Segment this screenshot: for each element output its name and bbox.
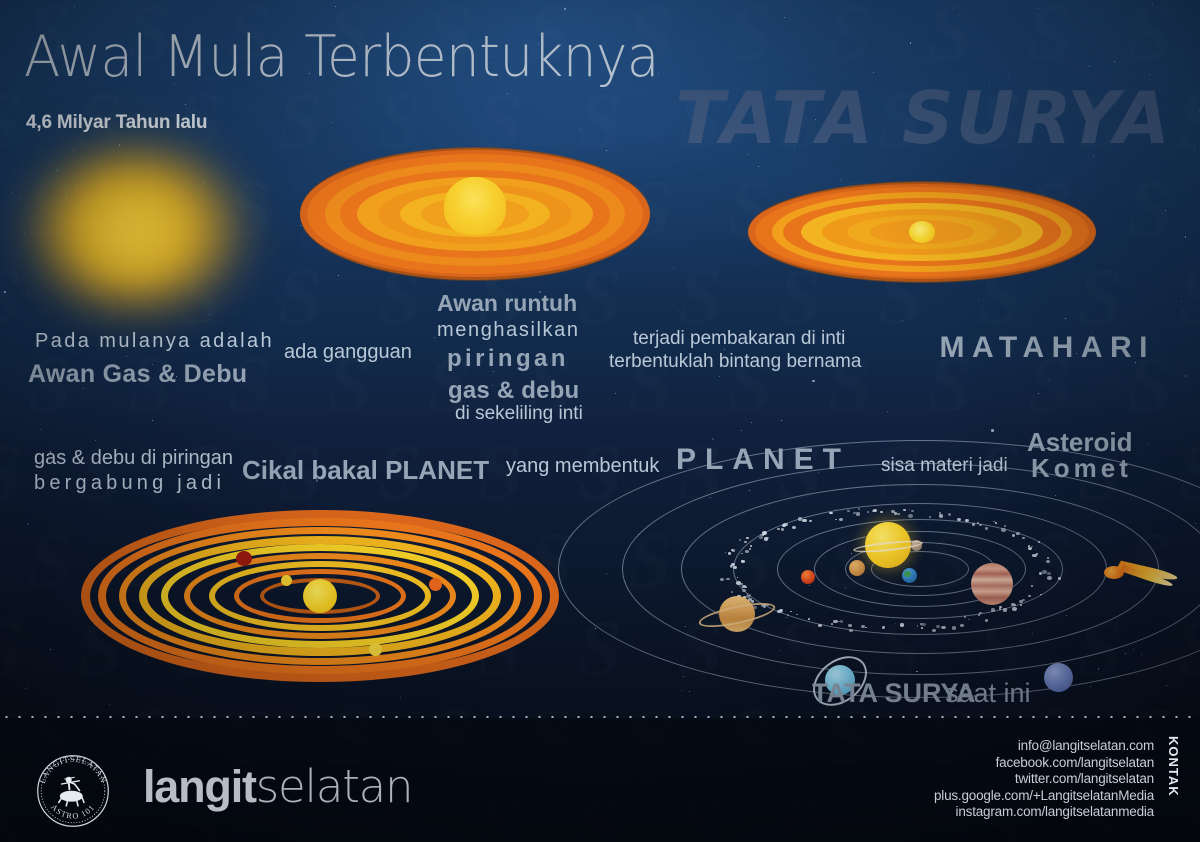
asteroid xyxy=(1019,600,1023,603)
svg-text:LANGITSELATAN: LANGITSELATAN xyxy=(38,755,108,785)
asteroid xyxy=(985,619,989,622)
asteroid xyxy=(991,608,995,611)
asteroid xyxy=(1047,576,1052,580)
caption-step6-line1: yang membentuk xyxy=(506,455,659,478)
asteroid xyxy=(932,629,936,632)
planet-mars xyxy=(801,570,815,584)
asteroid xyxy=(942,626,945,629)
protoplanetary-disk-illustration xyxy=(80,508,560,684)
brand-bold: langit xyxy=(143,761,256,812)
asteroid xyxy=(968,619,970,621)
asteroid xyxy=(746,537,749,539)
caption-step3-line5: di sekeliling inti xyxy=(455,403,583,425)
asteroid xyxy=(1003,608,1008,612)
asteroid xyxy=(985,527,989,530)
asteroid xyxy=(882,626,886,629)
asteroid xyxy=(838,621,840,623)
asteroid xyxy=(1004,525,1006,527)
asteroid xyxy=(744,541,747,543)
page-title: Awal Mula Terbentuknya xyxy=(24,24,659,90)
ignited-star-disk xyxy=(748,176,1096,288)
asteroid xyxy=(745,586,747,588)
planet-neptune xyxy=(1044,663,1073,692)
contact-line[interactable]: facebook.com/langitselatan xyxy=(934,755,1154,772)
asteroid xyxy=(798,517,803,521)
caption-step5-bold: Cikal bakal PLANET xyxy=(242,455,489,486)
planet-jupiter xyxy=(971,563,1013,605)
asteroid xyxy=(921,623,926,627)
caption-step6-planet: PLANET xyxy=(676,443,850,477)
asteroid xyxy=(829,512,832,515)
caption-step3-line2: menghasilkan xyxy=(437,319,580,342)
caption-step4-line1: terjadi pembakaran di inti xyxy=(633,328,845,350)
page-subtitle: 4,6 Milyar Tahun lalu xyxy=(26,112,207,134)
asteroid xyxy=(900,623,905,627)
asteroid xyxy=(730,566,733,568)
asteroid xyxy=(1047,572,1051,576)
caption-step7-komet: Komet xyxy=(1031,453,1132,484)
contact-line[interactable]: instagram.com/langitselatanmedia xyxy=(934,804,1154,821)
asteroid xyxy=(865,627,867,628)
asteroid xyxy=(790,611,792,613)
asteroid xyxy=(745,550,749,553)
asteroid xyxy=(781,528,784,530)
earth-landmass xyxy=(904,571,911,577)
contact-line[interactable]: info@langitselatan.com xyxy=(934,738,1154,755)
asteroid xyxy=(999,608,1001,610)
asteroid xyxy=(777,528,779,530)
caption-step4-line2: terbentuklah bintang bernama xyxy=(609,351,861,373)
asteroid xyxy=(939,514,943,517)
caption-step5-line2: bergabung jadi xyxy=(34,472,225,495)
footer-divider xyxy=(0,716,1200,718)
planet-venus xyxy=(849,560,865,576)
asteroid xyxy=(1022,537,1025,539)
caption-step1-light: Pada mulanya adalah xyxy=(35,330,274,353)
asteroid xyxy=(978,614,980,616)
asteroid xyxy=(936,625,940,628)
gas-cloud-illustration xyxy=(20,128,260,328)
brand-light: selatan xyxy=(256,760,413,813)
contact-list: info@langitselatan.comfacebook.com/langi… xyxy=(934,738,1154,821)
caption-step5-line1: gas & debu di piringan xyxy=(34,447,233,470)
asteroid xyxy=(891,510,895,513)
collapsing-cloud-disk xyxy=(300,140,650,288)
asteroid xyxy=(732,549,735,551)
asteroid xyxy=(746,595,750,598)
asteroid xyxy=(1042,570,1047,574)
asteroid xyxy=(731,591,733,593)
asteroid xyxy=(911,510,914,512)
asteroid xyxy=(908,514,913,518)
asteroid xyxy=(835,519,837,521)
comet xyxy=(1104,562,1180,588)
asteroid xyxy=(1028,595,1031,597)
page-title-ghost: TATA SURYA xyxy=(675,76,1172,160)
infographic-poster: SSSSSSSSSSSSSSSSSSSSSSSSSSSSSSSSSSSSSSSS… xyxy=(0,0,1200,842)
kontak-label: KONTAK xyxy=(1166,736,1180,797)
caption-step4-matahari: MATAHARI xyxy=(939,331,1155,365)
langitselatan-logo: LANGITSELATAN ASTRO 101 xyxy=(30,748,116,834)
asteroid xyxy=(818,624,822,627)
caption-step3-line1: Awan runtuh xyxy=(437,290,577,317)
caption-step1-bold: Awan Gas & Debu xyxy=(28,360,247,389)
asteroid xyxy=(802,519,806,523)
asteroid xyxy=(739,539,741,541)
asteroid xyxy=(957,518,961,521)
caption-step3-line4: gas & debu xyxy=(448,377,579,405)
asteroid xyxy=(856,512,860,515)
asteroid xyxy=(833,620,838,624)
asteroid xyxy=(1020,604,1022,606)
asteroid xyxy=(1028,547,1031,550)
caption-step2: ada gangguan xyxy=(284,341,412,364)
asteroid xyxy=(972,523,975,525)
caption-step7-line1: sisa materi jadi xyxy=(881,455,1008,477)
caption-step3-line3: piringan xyxy=(447,345,569,373)
diagram-caption-light: saat ini xyxy=(945,678,1031,709)
asteroid xyxy=(1040,594,1042,596)
asteroid xyxy=(849,629,854,633)
asteroid xyxy=(783,523,788,527)
asteroid xyxy=(766,537,769,539)
asteroid xyxy=(897,513,899,515)
asteroid xyxy=(1001,528,1006,532)
asteroid xyxy=(777,610,781,613)
contact-line[interactable]: plus.google.com/+LangitselatanMedia xyxy=(934,788,1154,805)
brand-wordmark: langitselatan xyxy=(143,760,412,813)
contact-line[interactable]: twitter.com/langitselatan xyxy=(934,771,1154,788)
asteroid xyxy=(831,623,834,625)
